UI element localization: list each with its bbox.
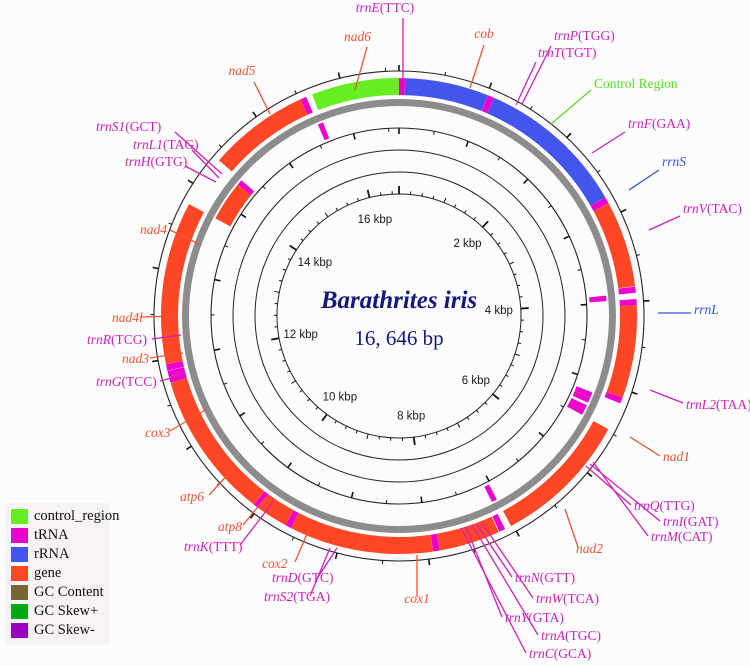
ruler-label-14kbp: 14 kbp xyxy=(298,257,333,269)
legend-swatch-icon xyxy=(11,509,28,524)
label-gene-part: trnD xyxy=(272,570,298,585)
label-gene-part: nad4 xyxy=(140,222,167,237)
feature-trnP[interactable] xyxy=(318,122,329,140)
inner-tick xyxy=(351,492,353,498)
genome-map-svg: 2 kbp4 kbp6 kbp8 kbp10 kbp12 kbp14 kbp16… xyxy=(0,0,750,666)
label-anticodon-part: (GAT) xyxy=(683,514,718,529)
ruler-tick xyxy=(345,426,346,429)
label-gene-part: trnK xyxy=(184,539,210,554)
ruler-tick xyxy=(500,385,502,387)
legend: control_regiontRNArRNAgeneGC ContentGC S… xyxy=(6,503,110,645)
inner-tick xyxy=(224,383,227,384)
inner-tick xyxy=(455,492,456,495)
ruler-tick xyxy=(290,246,297,250)
label-gene-part: trnL2 xyxy=(686,397,716,412)
ruler-tick xyxy=(288,259,291,260)
label-nad1[interactable]: nad1 xyxy=(663,449,690,464)
legend-item-gc-skew[interactable]: GC Skew- xyxy=(11,621,107,640)
label-gene-part: trnN xyxy=(515,570,541,585)
ruler-tick xyxy=(300,390,302,392)
label-trnV[interactable]: trnV(TAC) xyxy=(683,201,742,216)
outer-tick xyxy=(636,255,639,256)
label-trnH[interactable]: trnH(GTG) xyxy=(125,154,187,169)
ruler-tick xyxy=(367,434,368,439)
legend-label: tRNA xyxy=(34,528,69,543)
legend-label: GC Skew- xyxy=(34,623,95,638)
outer-tick xyxy=(253,112,256,117)
ruler-tick xyxy=(325,213,328,217)
label-trnS1[interactable]: trnS1(GCT) xyxy=(96,119,161,134)
legend-label: GC Skew+ xyxy=(34,604,98,619)
inner-tick xyxy=(539,432,544,436)
ruler-tick xyxy=(436,432,437,435)
label-trnK[interactable]: trnK(TTT) xyxy=(184,539,243,554)
outer-tick xyxy=(295,90,296,93)
label-anticodon-part: (TGC) xyxy=(565,628,601,643)
label-gene-part: cob xyxy=(474,26,494,41)
ruler-tick xyxy=(491,233,493,235)
ruler-ring: 2 kbp4 kbp6 kbp8 kbp10 kbp12 kbp14 kbp16… xyxy=(151,65,650,565)
label-text: Control Region xyxy=(594,76,678,91)
ruler-label-2kbp: 2 kbp xyxy=(453,238,481,250)
organism-name: Barathrites iris xyxy=(320,287,477,314)
label-gene-part: trnM xyxy=(651,529,679,544)
inner-tick xyxy=(572,373,578,375)
label-gene-part: trnG xyxy=(96,374,122,389)
legend-label: gene xyxy=(34,566,61,581)
inner-tick xyxy=(261,442,264,444)
label-trnS2[interactable]: trnS2(TGA) xyxy=(264,589,330,604)
label-nad6[interactable]: nad6 xyxy=(344,29,371,44)
feature-trnS2[interactable] xyxy=(484,485,496,503)
inner-tick xyxy=(215,280,221,281)
label-anticodon-part: (GCA) xyxy=(554,646,592,661)
ruler-tick xyxy=(509,262,514,264)
outer-tick xyxy=(632,392,638,394)
inner-tick xyxy=(240,413,245,416)
label-nad4[interactable]: nad4 xyxy=(140,222,167,237)
ruler-tick xyxy=(291,381,295,384)
feature-trnM[interactable] xyxy=(619,299,636,306)
label-text: rrnL xyxy=(694,302,719,317)
label-gene-part: trnY xyxy=(505,610,530,625)
ruler-tick xyxy=(457,423,459,427)
inner-tick xyxy=(290,163,293,168)
label-nad5[interactable]: nad5 xyxy=(229,63,256,78)
ruler-tick xyxy=(483,221,488,227)
ruler-tick xyxy=(504,253,507,255)
label-trnL2[interactable]: trnL2(TAA) xyxy=(686,397,750,412)
feature-cox1[interactable] xyxy=(503,421,608,526)
label-cox2[interactable]: cox2 xyxy=(262,556,288,571)
label-anticodon-part: (GCT) xyxy=(125,119,161,134)
leader-cob xyxy=(470,45,484,88)
ruler-tick xyxy=(515,354,520,356)
ruler-tick xyxy=(287,371,290,372)
ruler-tick xyxy=(301,239,303,241)
outer-tick xyxy=(153,267,159,268)
ruler-tick xyxy=(498,243,500,245)
feature-atp8[interactable] xyxy=(417,535,433,553)
ruler-tick xyxy=(474,217,476,219)
ruler-tick xyxy=(279,280,282,281)
leader-nad1 xyxy=(630,437,660,456)
label-trnR[interactable]: trnR(TCG) xyxy=(87,332,147,347)
ruler-tick xyxy=(511,365,514,366)
inner-tick xyxy=(516,459,518,462)
ruler-label-6kbp: 6 kbp xyxy=(462,375,490,387)
inner-tick xyxy=(225,246,228,247)
center-title: Barathrites iris 16, 646 bp xyxy=(320,287,477,350)
legend-swatch-icon xyxy=(11,528,28,543)
ruler-label-4kbp: 4 kbp xyxy=(485,305,513,317)
ruler-tick xyxy=(518,343,521,344)
label-gene-part: nad3 xyxy=(122,351,149,366)
feature-nad4[interactable] xyxy=(171,378,246,488)
inner-tick xyxy=(288,463,292,468)
ruler-tick xyxy=(368,190,370,198)
label-anticodon-part: (TCA) xyxy=(563,591,599,606)
legend-swatch-icon xyxy=(11,566,28,581)
ruler-label-8kbp: 8 kbp xyxy=(397,410,425,422)
label-anticodon-part: (TTC) xyxy=(380,0,415,15)
ruler-tick xyxy=(335,421,337,424)
outer-tick xyxy=(336,553,338,559)
label-anticodon-part: (TTG) xyxy=(660,498,695,513)
outer-tick xyxy=(429,559,430,565)
label-cob[interactable]: cob xyxy=(474,26,494,41)
outer-tick xyxy=(597,170,600,172)
label-trnQ[interactable]: trnQ(TTG) xyxy=(634,498,695,513)
label-anticodon-part: (TTT) xyxy=(209,539,243,554)
ruler-tick xyxy=(517,285,520,286)
ruler-tick xyxy=(464,211,466,214)
outer-tick xyxy=(555,505,557,508)
label-trnT[interactable]: trnT(TGT) xyxy=(538,45,597,60)
label-trnD[interactable]: trnD(GTC) xyxy=(272,570,334,585)
label-trnM[interactable]: trnM(CAT) xyxy=(651,529,713,544)
ruler-tick xyxy=(271,338,279,339)
label-nad3[interactable]: nad3 xyxy=(122,351,149,366)
ruler-tick xyxy=(485,403,487,405)
leader-rrnS xyxy=(629,170,659,190)
leader-trnH xyxy=(185,166,216,182)
label-trnL1[interactable]: trnL1(TAG) xyxy=(133,137,199,152)
label-gene-part: trnI xyxy=(663,514,685,529)
outer-tick xyxy=(219,145,222,147)
legend-swatch-icon xyxy=(11,547,28,562)
ruler-tick xyxy=(274,291,279,292)
label-nad2[interactable]: nad2 xyxy=(576,541,603,556)
label-gene-part: cox1 xyxy=(404,591,429,606)
label-anticodon-part: (TAA) xyxy=(716,397,750,412)
outer-tick xyxy=(186,446,191,449)
inner-tick xyxy=(434,131,435,134)
outer-tick xyxy=(152,361,158,362)
legend-item-control-region[interactable]: control_region xyxy=(11,507,107,526)
label-anticodon-part: (TGA) xyxy=(293,589,330,604)
outer-tick xyxy=(167,405,170,406)
inner-tick xyxy=(214,349,220,350)
outer-tick-circle xyxy=(154,71,644,561)
label-gene-part: trnS1 xyxy=(96,119,125,134)
label-gene-part: trnA xyxy=(541,628,566,643)
ruler-label-10kbp: 10 kbp xyxy=(323,392,358,404)
outer-tick xyxy=(292,537,294,540)
ruler-tick xyxy=(322,414,327,420)
inner-tick xyxy=(498,157,500,160)
ruler-tick xyxy=(506,375,509,376)
ruler-tick xyxy=(283,269,286,270)
inner-tick xyxy=(421,497,422,503)
label-gene-part: trnP xyxy=(554,28,578,43)
inner-tick xyxy=(318,483,320,486)
inner-tick xyxy=(263,186,266,188)
inner-tick xyxy=(241,214,246,217)
outer-tick xyxy=(516,531,519,536)
label-gene-part: trnC xyxy=(529,646,555,661)
inner-tick xyxy=(320,145,321,148)
label-anticodon-part: (TCC) xyxy=(122,374,157,389)
label-gene-part: trnF xyxy=(628,116,653,131)
ruler-tick xyxy=(514,274,517,275)
label-anticodon-part: (TGT) xyxy=(561,45,596,60)
ruler-tick xyxy=(316,407,318,409)
ruler-tick xyxy=(358,198,359,201)
legend-item-rrna[interactable]: rRNA xyxy=(11,545,107,564)
outer-tick xyxy=(587,473,592,477)
ruler-label-12kbp: 12 kbp xyxy=(283,329,318,341)
label-anticodon-part: (TCG) xyxy=(111,332,147,347)
label-trnC[interactable]: trnC(GCA) xyxy=(529,646,591,661)
label-trnY[interactable]: trnY(GTA) xyxy=(505,610,564,625)
ruler-tick xyxy=(454,205,455,208)
label-gene-part: trnW xyxy=(536,591,565,606)
legend-label: GC Content xyxy=(34,585,104,600)
guide-circle-2 xyxy=(233,150,565,482)
ruler-tick xyxy=(347,203,348,206)
label-gene-part: trnS2 xyxy=(264,589,294,604)
label-gene-part: atp6 xyxy=(180,489,204,504)
outer-tick xyxy=(530,106,532,109)
label-anticodon-part: (CAT) xyxy=(678,529,713,544)
outer-tick xyxy=(489,83,491,89)
leader-trnL2 xyxy=(650,390,683,403)
leader-trnF xyxy=(592,132,625,153)
label-gene-part: nad2 xyxy=(576,541,603,556)
inner-tick xyxy=(560,405,563,407)
legend-swatch-icon xyxy=(11,604,28,619)
label-trnF[interactable]: trnF(GAA) xyxy=(628,116,690,131)
ruler-tick xyxy=(476,410,478,412)
label-gene-part: trnE xyxy=(356,0,381,15)
label-rrnL[interactable]: rrnL xyxy=(694,302,719,317)
label-atp6[interactable]: atp6 xyxy=(180,489,204,504)
label-gene-part: nad4l xyxy=(112,310,143,325)
outer-tick xyxy=(567,133,571,137)
ruler-tick xyxy=(444,198,446,203)
outer-tick xyxy=(338,72,339,78)
inner-tick xyxy=(578,270,581,271)
ruler-tick xyxy=(336,208,338,211)
legend-swatch-icon xyxy=(11,585,28,600)
genome-length: 16, 646 bp xyxy=(354,326,443,350)
legend-swatch-icon xyxy=(11,623,28,638)
leader-trnT xyxy=(516,62,536,105)
leader-trnC xyxy=(461,528,526,653)
inner-tick xyxy=(354,134,355,140)
ruler-tick xyxy=(279,349,282,350)
ruler-tick xyxy=(467,417,469,419)
label-anticodon-part: (GTT) xyxy=(540,570,575,585)
feature-nad5[interactable] xyxy=(161,204,204,364)
outer-tick xyxy=(613,435,616,437)
label-text: rrnS xyxy=(662,154,686,169)
label-trnA[interactable]: trnA(TGC) xyxy=(541,628,601,643)
label-gene-part: trnV xyxy=(683,201,709,216)
ruler-tick xyxy=(308,230,310,232)
label-nad4l[interactable]: nad4l xyxy=(112,310,143,325)
ruler-tick xyxy=(433,196,434,199)
label-gene-part: nad1 xyxy=(663,449,690,464)
label-anticodon-part: (TGG) xyxy=(578,28,615,43)
label-atp8[interactable]: atp8 xyxy=(218,519,242,534)
label-anticodon-part: (TAG) xyxy=(163,137,199,152)
ruler-label-16kbp: 16 kbp xyxy=(358,214,393,226)
legend-item-gc-skew[interactable]: GC Skew+ xyxy=(11,602,107,621)
outer-tick xyxy=(621,209,626,212)
outer-tick xyxy=(188,180,193,183)
inner-tick-circle xyxy=(211,128,587,504)
leader-trnQ xyxy=(586,466,631,505)
label-anticodon-part: (TAC) xyxy=(707,201,742,216)
ruler-tick xyxy=(493,394,499,399)
feature-atp6[interactable] xyxy=(358,534,419,554)
legend-item-gene[interactable]: gene xyxy=(11,564,107,583)
feature-trnQ[interactable] xyxy=(589,296,606,303)
feature-nad6[interactable] xyxy=(215,184,251,226)
label-gene-part: trnH xyxy=(125,154,152,169)
ruler-tick xyxy=(414,437,415,445)
label-trnP[interactable]: trnP(TGG) xyxy=(554,28,615,43)
ruler-tick xyxy=(447,428,448,431)
feature-trnF[interactable] xyxy=(399,78,405,95)
label-gene-part: trnT xyxy=(538,45,563,60)
legend-item-trna[interactable]: tRNA xyxy=(11,526,107,545)
inner-tick xyxy=(466,141,468,147)
label-gene-part: trnQ xyxy=(634,498,660,513)
inner-tick xyxy=(564,236,569,239)
label-gene-part: cox2 xyxy=(262,556,288,571)
label-anticodon-part: (GTG) xyxy=(151,154,188,169)
label-trnE[interactable]: trnE(TTC) xyxy=(356,0,415,15)
outer-tick xyxy=(445,72,446,75)
label-anticodon-part: (GAA) xyxy=(652,116,690,131)
label-trnI[interactable]: trnI(GAT) xyxy=(663,514,719,529)
label-gene-part: cox3 xyxy=(145,425,171,440)
label-gene-part: nad5 xyxy=(229,63,256,78)
label-anticodon-part: (GTA) xyxy=(528,610,564,625)
feature-cob[interactable] xyxy=(219,99,307,171)
label-gene-part: trnR xyxy=(87,332,112,347)
feature-rrnL[interactable] xyxy=(487,98,605,206)
label-gene-part: atp8 xyxy=(218,519,242,534)
label-gene-part: trnL1 xyxy=(133,137,163,152)
label-trnN[interactable]: trnN(GTT) xyxy=(515,570,575,585)
label-trnW[interactable]: trnW(TCA) xyxy=(536,591,599,606)
legend-label: rRNA xyxy=(34,547,69,562)
leader-cr xyxy=(551,90,591,124)
legend-item-gc-content[interactable]: GC Content xyxy=(11,583,107,602)
leader-trnV xyxy=(649,216,680,230)
label-control-region[interactable]: Control Region xyxy=(594,76,678,91)
feature-rings xyxy=(154,71,644,561)
ruler-tick xyxy=(425,435,426,438)
inner-tick xyxy=(486,476,489,481)
ruler-tick xyxy=(356,431,357,434)
label-trnG[interactable]: trnG(TCC) xyxy=(96,374,157,389)
label-rrnS[interactable]: rrnS xyxy=(662,154,686,169)
ruler-tick xyxy=(283,360,286,361)
ruler-tick xyxy=(307,399,309,401)
inner-tick xyxy=(548,206,551,208)
ruler-tick xyxy=(422,193,423,196)
label-gene-part: nad6 xyxy=(344,29,371,44)
leader-nad5 xyxy=(254,82,270,114)
label-anticodon-part: (GTC) xyxy=(298,570,334,585)
label-cox1[interactable]: cox1 xyxy=(404,591,429,606)
label-cox3[interactable]: cox3 xyxy=(145,425,171,440)
legend-label: control_region xyxy=(34,509,119,524)
inner-tick xyxy=(524,179,528,183)
ruler-tick xyxy=(317,222,319,224)
outer-tick xyxy=(169,223,172,224)
